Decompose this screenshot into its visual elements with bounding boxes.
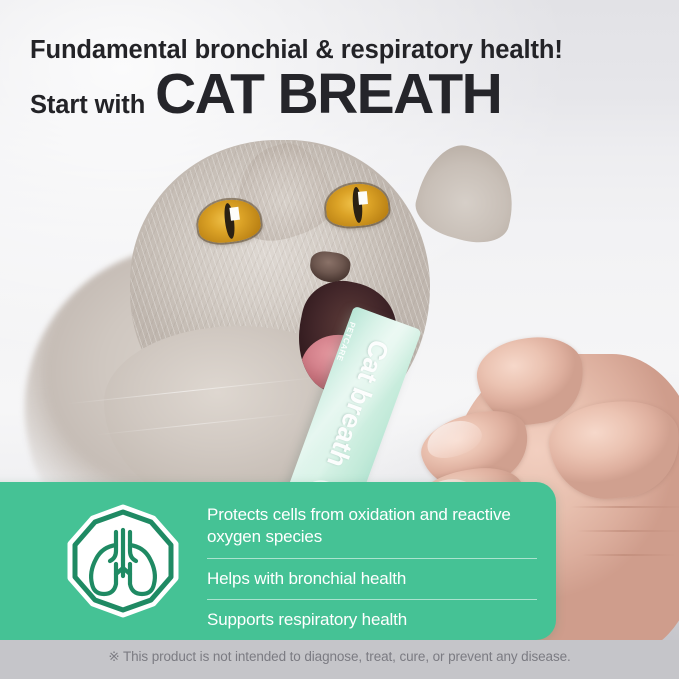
lungs-icon bbox=[64, 502, 182, 620]
knuckle-crease bbox=[576, 530, 679, 532]
benefits-panel: Protects cells from oxidation and reacti… bbox=[0, 482, 556, 640]
headline-main: Start with CAT BREATH bbox=[30, 67, 650, 123]
benefit-item: Protects cells from oxidation and reacti… bbox=[207, 494, 537, 558]
headline-subline: Fundamental bronchial & respiratory heal… bbox=[30, 36, 650, 64]
cat-eye-glint-right bbox=[358, 191, 368, 205]
headline-brand-name: CAT BREATH bbox=[155, 67, 501, 123]
knuckle-crease bbox=[582, 554, 676, 556]
product-advertisement: PETCARE Cat breath Fundamental bronchial… bbox=[0, 0, 679, 679]
headline-prefix: Start with bbox=[30, 91, 145, 120]
cat-eye-glint-left bbox=[230, 207, 241, 221]
benefit-item: Supports respiratory health bbox=[207, 599, 537, 640]
headline: Fundamental bronchial & respiratory heal… bbox=[30, 36, 650, 123]
knuckle-crease bbox=[570, 506, 679, 508]
benefit-item: Helps with bronchial health bbox=[207, 558, 537, 599]
benefit-list: Protects cells from oxidation and reacti… bbox=[207, 494, 537, 640]
disclaimer-text: ※ This product is not intended to diagno… bbox=[0, 649, 679, 665]
